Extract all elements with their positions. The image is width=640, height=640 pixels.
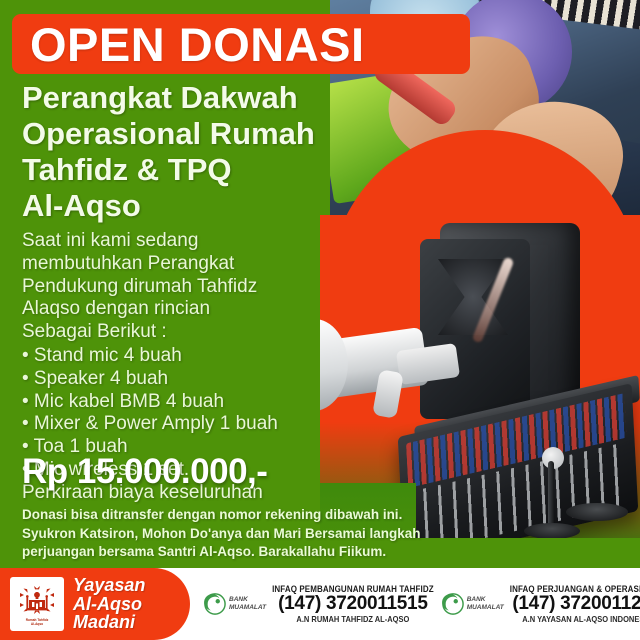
donation-poster: OPEN DONASI Perangkat Dakwah Operasional… [0, 0, 640, 640]
closing-paragraph: Donasi bisa ditransfer dengan nomor reke… [22, 506, 442, 562]
bank-account-2: BANK MUAMALAT INFAQ PERJUANGAN & OPERASI… [434, 585, 640, 624]
bank-account-1: BANK MUAMALAT INFAQ PEMBANGUNAN RUMAH TA… [196, 585, 434, 624]
logo-caption: Rumah TahfidzAl-Aqso [26, 618, 49, 626]
org-line-2: Al-Aqso [73, 595, 145, 614]
title-line-1: Perangkat Dakwah [22, 80, 422, 116]
mosque-icon [14, 583, 60, 617]
account-heading-1: INFAQ PEMBANGUNAN RUMAH TAHFIDZ [272, 584, 434, 594]
account-holder-2: A.N YAYASAN AL-AQSO INDONESIA [510, 614, 640, 624]
list-item: • Speaker 4 buah [22, 368, 362, 391]
bank-muamalat-logo-1: BANK MUAMALAT [204, 593, 266, 615]
closing-line-1: Donasi bisa ditransfer dengan nomor reke… [22, 506, 442, 525]
mic-stand-base-2 [524, 523, 580, 539]
footer-brand-block: Rumah TahfidzAl-Aqso Yayasan Al-Aqso Mad… [0, 568, 190, 640]
title-line-3: Tahfidz & TPQ [22, 152, 422, 188]
organization-name: Yayasan Al-Aqso Madani [73, 576, 145, 632]
intro-line-5: Sebagai Berikut : [22, 321, 362, 344]
org-line-3: Madani [73, 613, 145, 632]
account-text-2: INFAQ PERJUANGAN & OPERASIONAL (147) 372… [510, 585, 640, 624]
foundation-logo: Rumah TahfidzAl-Aqso [10, 577, 64, 631]
bank-name-2: BANK MUAMALAT [467, 596, 504, 612]
title-line-4: Al-Aqso [22, 188, 422, 224]
bank-word-2: MUAMALAT [229, 604, 266, 612]
muamalat-icon [442, 593, 464, 615]
bank-accounts: BANK MUAMALAT INFAQ PEMBANGUNAN RUMAH TA… [196, 568, 640, 640]
mic-stand-pole-2 [548, 461, 554, 529]
org-line-1: Yayasan [73, 576, 145, 595]
intro-line-2: membutuhkan Perangkat [22, 253, 362, 276]
page-title: Perangkat Dakwah Operasional Rumah Tahfi… [22, 80, 422, 224]
intro-line-3: Pendukung dirumah Tahfidz [22, 276, 362, 299]
list-item: • Stand mic 4 buah [22, 345, 362, 368]
mic-stand-base [566, 503, 628, 521]
closing-line-3: perjuangan bersama Santri Al-Aqso. Barak… [22, 543, 442, 562]
account-heading-2: INFAQ PERJUANGAN & OPERASIONAL [510, 584, 640, 594]
intro-line-1: Saat ini kami sedang [22, 230, 362, 253]
headline-text: OPEN DONASI [12, 21, 365, 68]
price-amount: Rp 15.000.000,- [22, 452, 267, 492]
bank-word-2: MUAMALAT [467, 604, 504, 612]
account-holder-1: A.N RUMAH TAHFIDZ AL-AQSO [272, 614, 434, 624]
account-text-1: INFAQ PEMBANGUNAN RUMAH TAHFIDZ (147) 37… [272, 585, 434, 624]
bank-word-1: BANK [467, 596, 504, 604]
list-item: • Mixer & Power Amply 1 buah [22, 413, 362, 436]
bank-name-1: BANK MUAMALAT [229, 596, 266, 612]
account-number-2: (147) 3720011270 [510, 594, 640, 615]
list-item: • Mic kabel BMB 4 buah [22, 391, 362, 414]
bank-muamalat-logo-2: BANK MUAMALAT [442, 593, 504, 615]
footer-bar: Rumah TahfidzAl-Aqso Yayasan Al-Aqso Mad… [0, 568, 640, 640]
closing-line-2: Syukron Katsiron, Mohon Do'anya dan Mari… [22, 525, 442, 544]
account-number-1: (147) 3720011515 [272, 594, 434, 615]
bank-word-1: BANK [229, 596, 266, 604]
muamalat-icon [204, 593, 226, 615]
title-line-2: Operasional Rumah [22, 116, 422, 152]
headline-banner: OPEN DONASI [12, 14, 470, 74]
intro-line-4: Alaqso dengan rincian [22, 298, 362, 321]
